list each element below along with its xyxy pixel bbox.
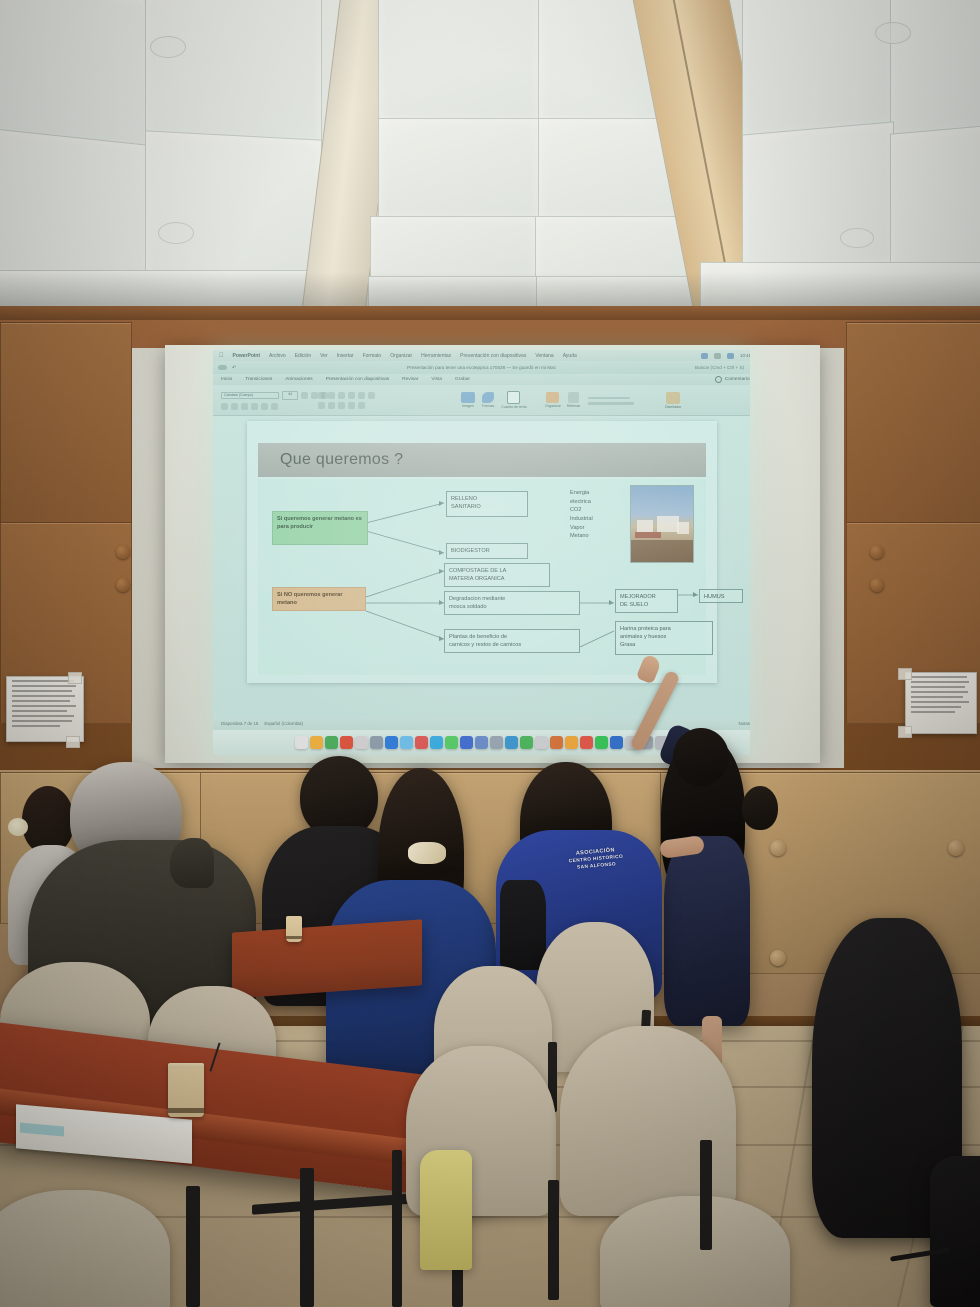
outputs-list: Energia electrica CO2 Industrial Vapor M… [570, 489, 593, 541]
backpack [930, 1156, 980, 1307]
tab-transiciones[interactable]: Transiciones [245, 377, 272, 382]
dock-app-icon[interactable] [580, 736, 593, 749]
menu-item-formato[interactable]: Formato [363, 353, 382, 359]
coffee-cup [286, 916, 302, 942]
comment-icon [715, 376, 722, 383]
dock-app-icon[interactable] [520, 736, 533, 749]
drop-ceiling [0, 0, 980, 318]
dock-app-icon[interactable] [430, 736, 443, 749]
dock-app-icon[interactable] [460, 736, 473, 749]
document-title: Presentación para tener una ecoteppica 1… [407, 365, 556, 370]
dock-app-icon[interactable] [475, 736, 488, 749]
conference-room-photo:  PowerPoint Archivo Edición Ver Inserta… [0, 0, 980, 1307]
node-si-queremos-metano[interactable]: Si queremos generar metano es para produ… [272, 511, 368, 545]
node-biodigestor[interactable]: BIODIGESTOR [446, 543, 528, 559]
slide-indicator: Diapositiva 7 de 15 [221, 721, 258, 726]
menu-item-presentacion[interactable]: Presentación con diapositivas [460, 353, 526, 359]
tape-icon [898, 668, 912, 680]
italic-icon[interactable] [311, 392, 318, 399]
dock-app-icon[interactable] [325, 736, 338, 749]
panel-knob-icon [870, 545, 884, 559]
dock-app-icon[interactable] [550, 736, 563, 749]
cuadro-texto-button[interactable]: Cuadro de texto [501, 391, 527, 409]
case-icon[interactable] [261, 403, 268, 410]
language-indicator[interactable]: Español (Colombia) [264, 721, 303, 726]
panel-knob-icon [870, 578, 884, 592]
elder-man-collar [170, 838, 214, 888]
chair [600, 1196, 790, 1307]
tab-animaciones[interactable]: Animaciones [285, 377, 312, 382]
designer-icon [666, 392, 680, 404]
dock-app-icon[interactable] [415, 736, 428, 749]
menu-item-organizar[interactable]: Organizar [390, 353, 412, 359]
undo-icon[interactable]: ↶ [232, 365, 236, 371]
tape-icon [68, 672, 82, 684]
node-humus[interactable]: HUMUS [699, 589, 743, 603]
menu-item-ver[interactable]: Ver [320, 353, 328, 359]
panel-knob-icon [116, 578, 130, 592]
indent-increase-icon[interactable] [348, 392, 355, 399]
search-field[interactable]: Buscar (Cmd + Ctrl + S) [695, 365, 744, 370]
dock-app-icon[interactable] [340, 736, 353, 749]
node-compostage[interactable]: COMPOSTAGE DE LA MATERIA ORGANICA [444, 563, 550, 587]
slide-diagram: Si queremos generar metano es para produ… [258, 479, 706, 675]
mid-table [232, 919, 422, 998]
woman-vest-shoulder [500, 880, 546, 970]
organizar-button[interactable]: Organizar [545, 392, 561, 408]
ribbon-tab-strip[interactable]: Inicio Transiciones Animaciones Presenta… [213, 374, 750, 385]
dock-app-icon[interactable] [565, 736, 578, 749]
menu-item-insertar[interactable]: Insertar [337, 353, 354, 359]
picture-icon [461, 392, 475, 403]
dock-app-icon[interactable] [370, 736, 383, 749]
search-icon[interactable] [714, 353, 721, 359]
tab-presentacion[interactable]: Presentación con diapositivas [326, 377, 389, 382]
disenador-button[interactable]: Diseñador [665, 392, 681, 409]
align-right-icon[interactable] [338, 402, 345, 409]
bold-icon[interactable] [301, 392, 308, 399]
dock-app-icon[interactable] [535, 736, 548, 749]
justify-icon[interactable] [348, 402, 355, 409]
bullets-icon[interactable] [318, 392, 325, 399]
node-mosca-soldado[interactable]: Degradacion mediante mosca soldado [444, 591, 580, 615]
text-direction-icon[interactable] [358, 402, 365, 409]
node-mejorador-suelo[interactable]: MEJORADOR DE SUELO [615, 589, 678, 613]
node-relleno-sanitario[interactable]: RELLENO SANITARIO [446, 491, 528, 517]
comments-button[interactable]: Comentarios [715, 376, 750, 383]
bow-scrunchie-icon [408, 842, 446, 864]
menu-item-ventana[interactable]: Ventana [535, 353, 553, 359]
control-center-icon[interactable] [727, 353, 734, 359]
numbering-icon[interactable] [328, 392, 335, 399]
foreground-coffee-cup [168, 1063, 204, 1117]
shapes-icon [482, 392, 494, 403]
rellenar-button[interactable]: Rellenar [567, 392, 580, 408]
wall-notice-left [6, 676, 84, 742]
panel-knob-icon [116, 545, 130, 559]
yellow-garment [420, 1150, 472, 1270]
strikethrough-icon[interactable] [241, 403, 248, 410]
presenter-head [673, 728, 729, 786]
arrange-icon [546, 392, 559, 403]
ribbon[interactable]: Candara (Cuerpo) 44 [213, 385, 750, 416]
apple-menu-icon[interactable]:  [219, 353, 224, 359]
columns-icon[interactable] [368, 392, 375, 399]
ceiling-vent-icon [150, 36, 186, 58]
slide-title-band: Que queremos ? [258, 443, 706, 477]
shadow-icon[interactable] [271, 403, 278, 410]
paper-label [20, 1123, 64, 1137]
ceiling-vent-icon [840, 228, 874, 248]
wall-panel [846, 322, 980, 524]
menu-item-edicion[interactable]: Edición [295, 353, 311, 359]
dock-app-icon[interactable] [505, 736, 518, 749]
tape-icon [898, 726, 912, 738]
macos-menubar[interactable]:  PowerPoint Archivo Edición Ver Inserta… [213, 350, 750, 361]
font-name-field[interactable]: Candara (Cuerpo) [221, 392, 279, 399]
wifi-icon[interactable] [701, 353, 708, 359]
ceiling-vent-icon [158, 222, 194, 244]
formas-button[interactable]: Formas [482, 392, 494, 408]
dock-app-icon[interactable] [595, 736, 608, 749]
slide-title-text: Que queremos ? [258, 451, 403, 469]
tape-icon [66, 736, 80, 748]
dock-app-icon[interactable] [400, 736, 413, 749]
dock-app-icon[interactable] [310, 736, 323, 749]
flower-hairclip-icon [8, 818, 28, 836]
chair [0, 1190, 170, 1307]
indent-decrease-icon[interactable] [338, 392, 345, 399]
menu-item-archivo[interactable]: Archivo [269, 353, 286, 359]
audience-extra-head [742, 786, 778, 830]
align-center-icon[interactable] [328, 402, 335, 409]
dock-app-icon[interactable] [445, 736, 458, 749]
tab-inicio[interactable]: Inicio [221, 377, 232, 382]
imagen-button[interactable]: Imagen [461, 392, 475, 408]
wall-notice-right [905, 672, 977, 734]
menubar-clock: 10:41 [740, 353, 750, 358]
tab-grabar[interactable]: Grabar [455, 377, 470, 382]
node-harina-proteica[interactable]: Harina proteica para animales y huesos G… [615, 621, 713, 655]
menu-item-ayuda[interactable]: Ayuda [563, 353, 577, 359]
ceiling-vent-icon [875, 22, 911, 44]
highlight-icon[interactable] [231, 403, 238, 410]
menu-item-powerpoint[interactable]: PowerPoint [233, 353, 261, 359]
dock-app-icon[interactable] [610, 736, 623, 749]
fill-icon [568, 392, 579, 403]
textbox-icon [507, 391, 520, 404]
autosave-toggle[interactable] [218, 365, 227, 370]
ppt-titlebar: ↶ Presentación para tener una ecoteppica… [213, 361, 750, 374]
menu-item-herramientas[interactable]: Herramientas [421, 353, 451, 359]
node-si-no-queremos-metano[interactable]: Si NO queremos generar metano [272, 587, 366, 611]
dock-app-icon[interactable] [295, 736, 308, 749]
tab-revisar[interactable]: Revisar [402, 377, 418, 382]
text-color-icon[interactable] [221, 403, 228, 410]
dock-app-icon[interactable] [490, 736, 503, 749]
wall-panel [0, 322, 132, 524]
slide[interactable]: Que queremos ? [247, 421, 717, 683]
line-spacing-icon[interactable] [358, 392, 365, 399]
presenter-dress [664, 836, 750, 1026]
dock-app-icon[interactable] [385, 736, 398, 749]
slide-photo[interactable] [630, 485, 694, 563]
tab-vista[interactable]: Vista [431, 377, 442, 382]
font-size-field[interactable]: 44 [282, 391, 298, 400]
notes-button[interactable]: Notas [739, 721, 750, 726]
clear-format-icon[interactable] [251, 403, 258, 410]
node-plantas-carnicos[interactable]: Plantas de beneficio de carnicos y resto… [444, 629, 580, 653]
dock-app-icon[interactable] [355, 736, 368, 749]
align-left-icon[interactable] [318, 402, 325, 409]
